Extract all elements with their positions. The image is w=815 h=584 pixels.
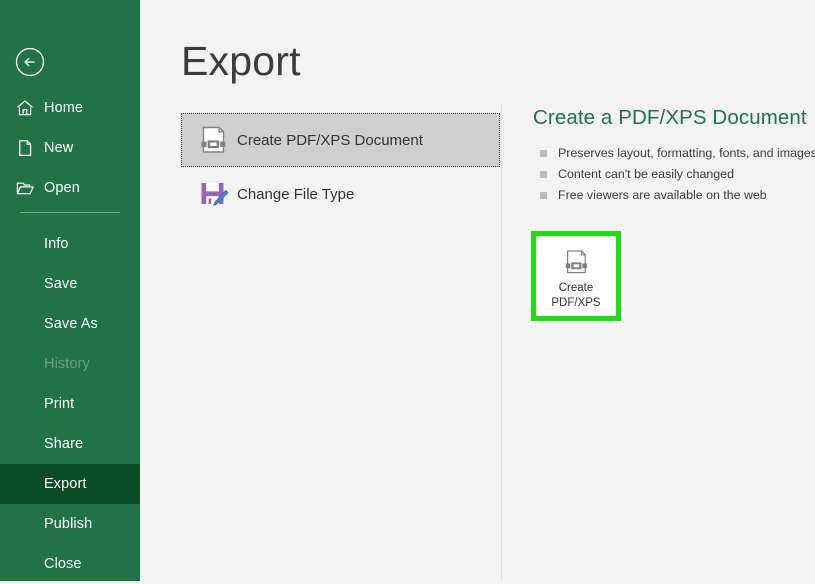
sidebar-item-info[interactable]: Info: [0, 224, 140, 264]
sidebar-item-new[interactable]: New: [0, 128, 140, 168]
page-title: Export: [181, 38, 301, 85]
detail-bullet-text: Preserves layout, formatting, fonts, and…: [558, 146, 815, 160]
create-pdf-xps-button-line1: Create: [559, 281, 594, 296]
detail-bullet-text: Content can't be easily changed: [558, 167, 734, 181]
backstage-sidebar: Home New Open: [0, 0, 140, 581]
sidebar-item-history-label: History: [44, 356, 90, 372]
sidebar-item-close[interactable]: Close: [0, 544, 140, 584]
detail-title: Create a PDF/XPS Document: [533, 106, 805, 130]
new-document-icon: [15, 138, 35, 158]
detail-bullet: Free viewers are available on the web: [533, 185, 805, 206]
backstage-view: Home New Open: [0, 0, 815, 581]
sidebar-item-open[interactable]: Open: [0, 168, 140, 208]
sidebar-item-share[interactable]: Share: [0, 424, 140, 464]
detail-bullet: Content can't be easily changed: [533, 164, 805, 185]
back-arrow-circle-icon: [12, 44, 48, 80]
option-change-file-type-label: Change File Type: [237, 186, 354, 203]
detail-bullet-text: Free viewers are available on the web: [558, 188, 767, 202]
sidebar-item-publish-label: Publish: [44, 516, 92, 532]
sidebar-item-print[interactable]: Print: [0, 384, 140, 424]
sidebar-item-close-label: Close: [44, 556, 82, 572]
detail-bullet: Preserves layout, formatting, fonts, and…: [533, 143, 805, 164]
sidebar-item-export[interactable]: Export: [0, 464, 140, 504]
option-create-pdf-xps-document-label: Create PDF/XPS Document: [237, 132, 423, 149]
home-icon: [15, 98, 35, 118]
sidebar-item-save[interactable]: Save: [0, 264, 140, 304]
option-create-pdf-xps-document[interactable]: Create PDF/XPS Document: [181, 113, 500, 167]
sidebar-item-save-as[interactable]: Save As: [0, 304, 140, 344]
sidebar-item-export-label: Export: [44, 476, 87, 492]
create-pdf-xps-button-line2: PDF/XPS: [551, 296, 600, 311]
bullet-square-icon: [540, 171, 547, 178]
detail-bullet-list: Preserves layout, formatting, fonts, and…: [533, 143, 805, 206]
sidebar-item-publish[interactable]: Publish: [0, 504, 140, 544]
back-button[interactable]: [12, 44, 48, 80]
create-pdf-xps-highlight: Create PDF/XPS: [531, 231, 621, 321]
sidebar-item-open-label: Open: [44, 180, 80, 196]
main-pane: Export Create PDF/XPS Document: [140, 0, 815, 581]
sidebar-item-home[interactable]: Home: [0, 88, 140, 128]
sidebar-secondary-nav: Info Save Save As History Print Share Ex…: [0, 224, 140, 584]
pdf-xps-document-icon: [561, 247, 591, 277]
option-change-file-type[interactable]: Change File Type: [181, 167, 500, 221]
create-pdf-xps-button[interactable]: Create PDF/XPS: [536, 236, 616, 316]
sidebar-item-new-label: New: [44, 140, 73, 156]
pdf-xps-document-icon: [196, 123, 230, 157]
column-divider: [501, 104, 502, 581]
sidebar-item-print-label: Print: [44, 396, 74, 412]
sidebar-primary-nav: Home New Open: [0, 88, 140, 208]
bullet-square-icon: [540, 192, 547, 199]
sidebar-divider: [20, 212, 120, 213]
sidebar-item-share-label: Share: [44, 436, 83, 452]
sidebar-item-history: History: [0, 344, 140, 384]
sidebar-item-save-label: Save: [44, 276, 77, 292]
bullet-square-icon: [540, 150, 547, 157]
open-folder-icon: [15, 178, 35, 198]
change-file-type-icon: [196, 177, 230, 211]
detail-panel: Create a PDF/XPS Document Preserves layo…: [533, 106, 805, 206]
export-option-list: Create PDF/XPS Document Change File Type: [181, 113, 500, 221]
sidebar-item-info-label: Info: [44, 236, 69, 252]
sidebar-item-home-label: Home: [44, 100, 83, 116]
sidebar-item-save-as-label: Save As: [44, 316, 98, 332]
